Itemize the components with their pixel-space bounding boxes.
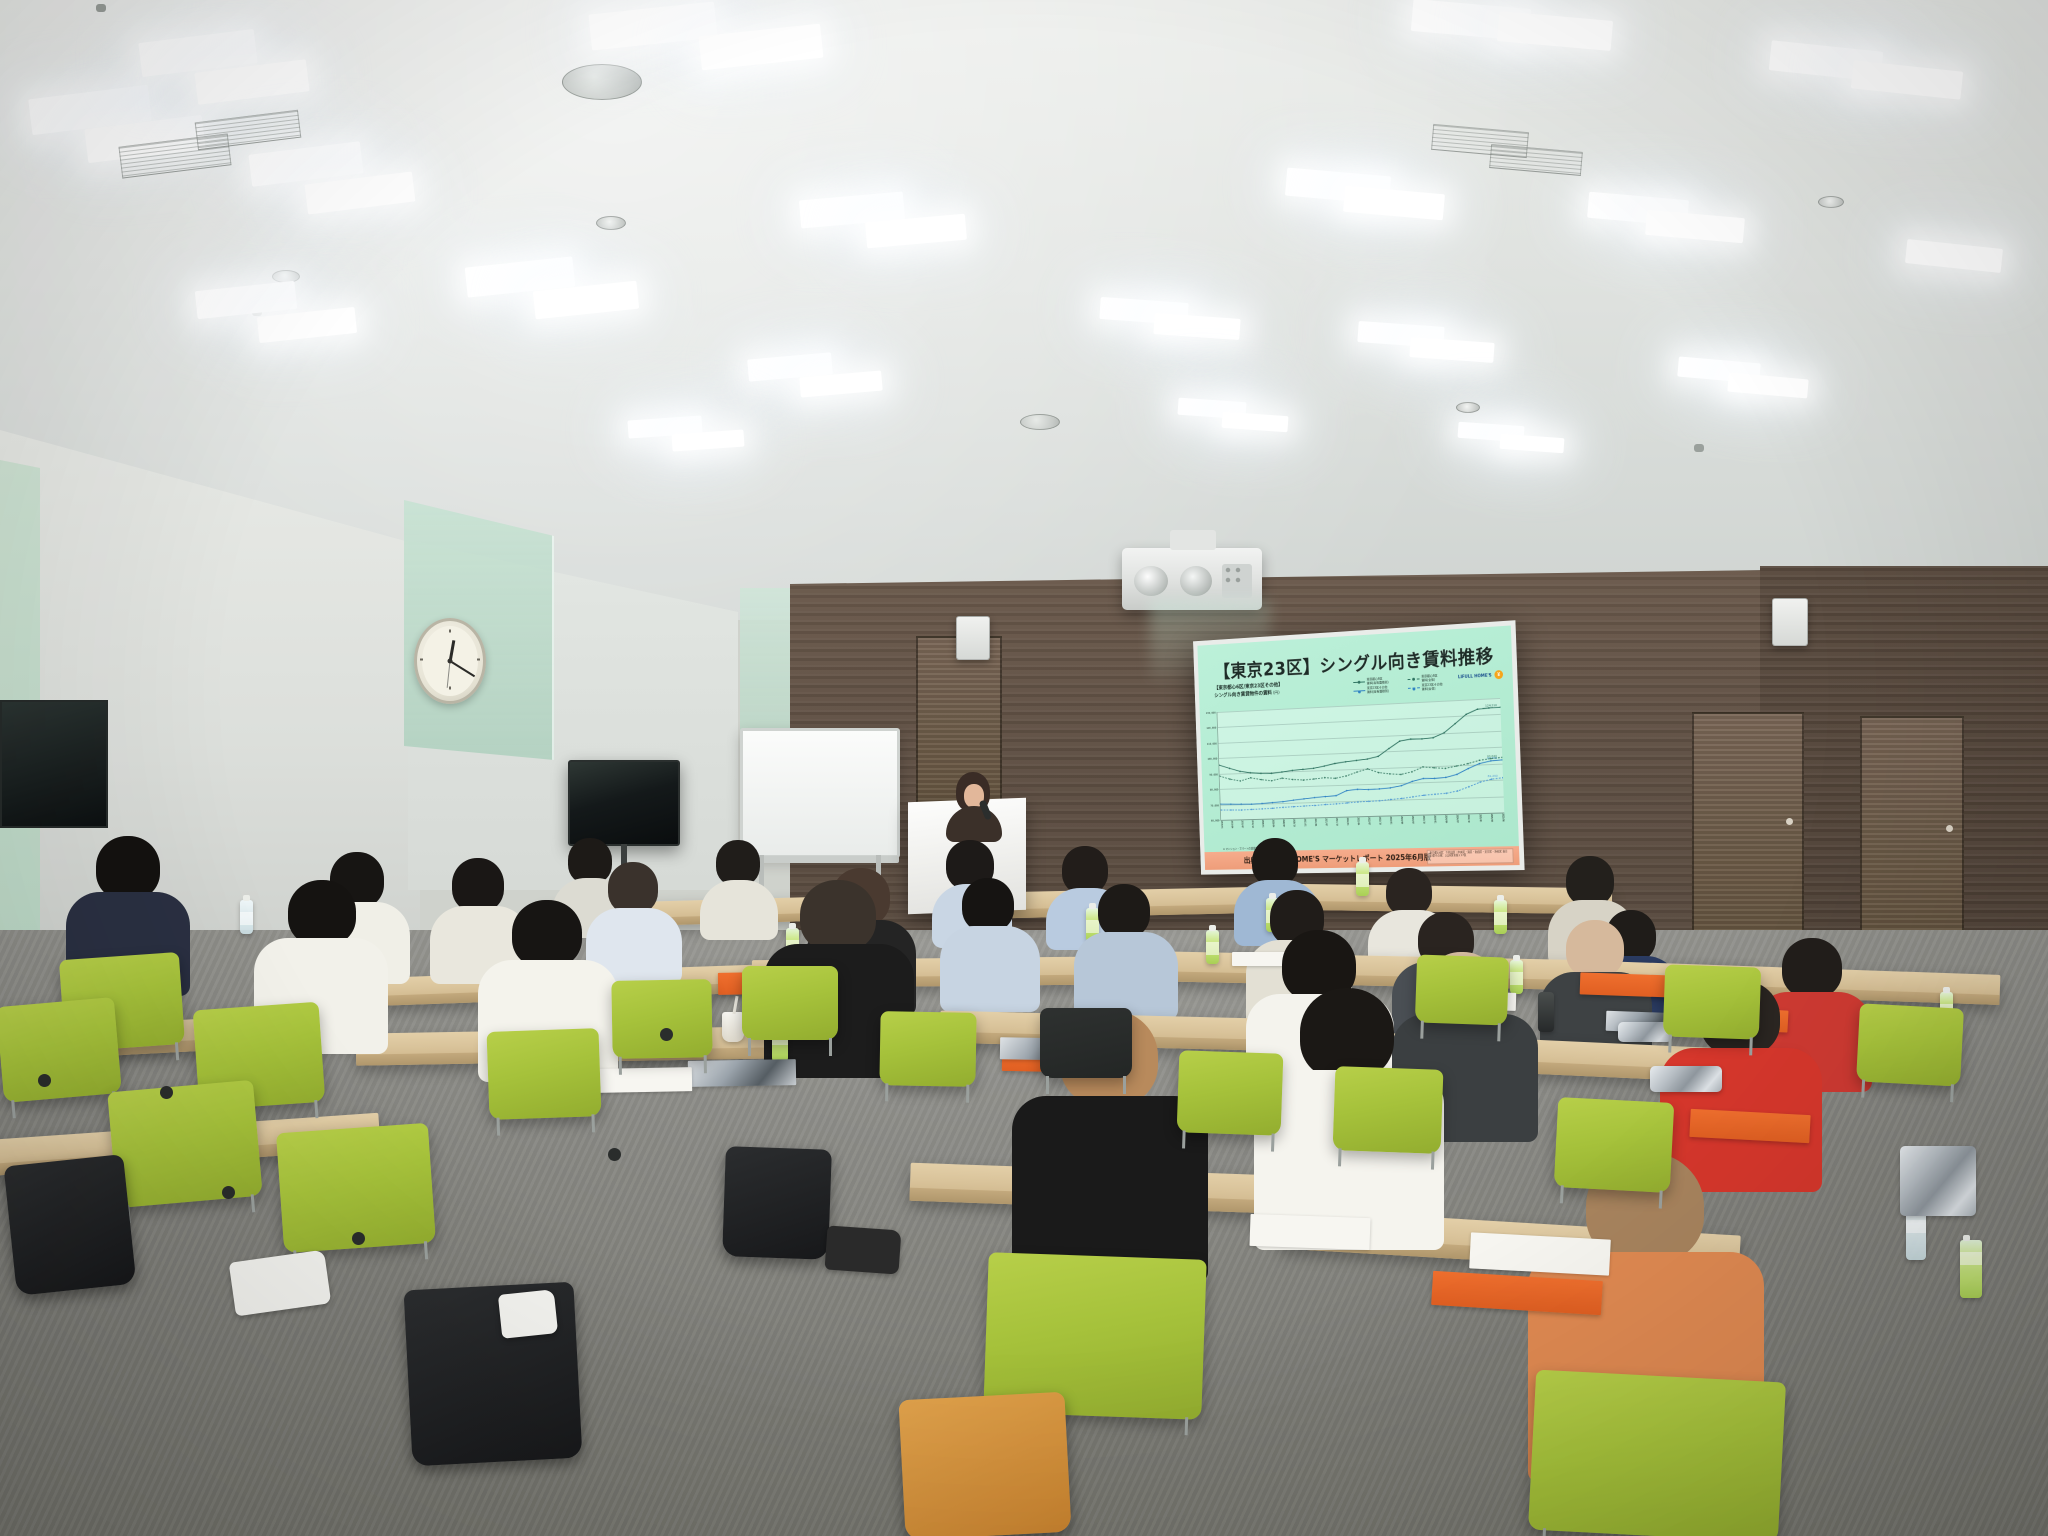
chair[interactable] bbox=[0, 997, 122, 1103]
handout-paper bbox=[1469, 1232, 1611, 1275]
attendee-head bbox=[1566, 920, 1624, 978]
chart-x-tick-label: 2019/07 bbox=[1241, 820, 1244, 828]
legend-label: 東京23区その他賃料(全体) bbox=[1422, 683, 1443, 691]
ceiling-downlight bbox=[1456, 402, 1480, 413]
chart-data-point bbox=[1220, 803, 1221, 805]
chart-data-point bbox=[1251, 803, 1253, 805]
chair[interactable] bbox=[1856, 1003, 1964, 1086]
chair-caster bbox=[352, 1232, 365, 1245]
legend-swatch bbox=[1408, 678, 1420, 680]
chart-x-tick-label: 2023/10 bbox=[1422, 816, 1425, 824]
attendee-torso bbox=[940, 926, 1040, 1012]
door-knob[interactable] bbox=[1786, 818, 1793, 825]
chart-data-point bbox=[1422, 766, 1424, 768]
chair[interactable] bbox=[486, 1028, 601, 1120]
ceiling-speaker bbox=[1020, 414, 1060, 430]
door-knob[interactable] bbox=[1946, 825, 1953, 832]
chart-data-point bbox=[1346, 802, 1348, 804]
chart-data-point bbox=[1271, 780, 1273, 782]
paper-cup bbox=[722, 1012, 744, 1042]
chart-x-tick-label: 2020/10 bbox=[1293, 819, 1296, 827]
chart-data-point bbox=[1303, 805, 1305, 807]
whiteboard bbox=[740, 728, 900, 858]
attendee-head bbox=[1566, 856, 1614, 906]
slide-subtitle-unit: (円) bbox=[1272, 689, 1280, 694]
chart-x-tick-label: 2020/01 bbox=[1261, 820, 1264, 828]
chart-data-point bbox=[1421, 738, 1423, 740]
chart-data-point bbox=[1345, 775, 1347, 777]
clock-tick bbox=[449, 687, 451, 690]
chair-caster bbox=[222, 1186, 235, 1199]
chart-data-point bbox=[1250, 777, 1252, 779]
foil-snack bbox=[1900, 1146, 1976, 1216]
chart-data-point bbox=[1434, 793, 1436, 795]
projection-screen: 【東京23区】シングル向き賃料推移 【東京都心6区/東京23区その他】 シングル… bbox=[1193, 620, 1525, 874]
screen-frame: 【東京23区】シングル向き賃料推移 【東京都心6区/東京23区その他】 シングル… bbox=[1193, 620, 1525, 874]
chart-data-point bbox=[1423, 794, 1425, 796]
chart-legend: 東京都心6区賃料(専有面積別)東京都心6区賃料(全体)東京23区その他賃料(専有… bbox=[1353, 673, 1464, 695]
chart-x-tick-label: 2021/04 bbox=[1314, 818, 1317, 826]
chair[interactable] bbox=[1415, 954, 1509, 1025]
side-door-far-right[interactable] bbox=[1860, 716, 1964, 952]
chart-data-point bbox=[1281, 777, 1283, 779]
legend-label: 東京都心6区賃料(全体) bbox=[1421, 675, 1437, 683]
attendee-head bbox=[608, 862, 658, 914]
chart-data-point bbox=[1292, 779, 1294, 781]
chart-data-point bbox=[1251, 809, 1253, 811]
chart-x-tick-label: 2019/04 bbox=[1231, 821, 1234, 829]
chair[interactable] bbox=[1554, 1097, 1675, 1193]
chart-data-point bbox=[1433, 767, 1435, 769]
attendee-head bbox=[512, 900, 582, 968]
chart-data-point bbox=[1334, 763, 1336, 765]
chart-data-point bbox=[1501, 756, 1503, 758]
wall-clock bbox=[414, 618, 486, 704]
chart-data-point bbox=[1500, 706, 1502, 708]
shoe bbox=[498, 1289, 558, 1339]
chart-data-point bbox=[1434, 778, 1436, 780]
chart-data-point bbox=[1241, 809, 1243, 811]
projector-keypad[interactable] bbox=[1222, 564, 1252, 598]
chair[interactable] bbox=[1040, 1008, 1132, 1078]
chart-data-point bbox=[1302, 769, 1304, 771]
chart-data-point bbox=[1292, 770, 1294, 772]
chart-data-point bbox=[1457, 790, 1459, 792]
sprinkler-head bbox=[1694, 444, 1704, 452]
chart-x-tick-label: 2024/07 bbox=[1456, 815, 1459, 823]
chart-data-point bbox=[1240, 803, 1242, 805]
chart-y-tick-label: 100,000 bbox=[1203, 757, 1217, 761]
chart-y-tick-label: 70,000 bbox=[1205, 803, 1219, 807]
chart-data-point bbox=[1220, 809, 1221, 811]
chair-caster bbox=[38, 1074, 51, 1087]
chart-series-line bbox=[1220, 778, 1504, 811]
green-tea-bottle bbox=[1494, 900, 1507, 934]
chart-plot-area: 60,00070,00080,00090,000100,000110,00012… bbox=[1217, 698, 1505, 821]
chair[interactable] bbox=[1663, 964, 1761, 1039]
attendee-head bbox=[288, 880, 356, 946]
green-tea-bottle bbox=[1356, 862, 1369, 896]
chair[interactable] bbox=[107, 1080, 263, 1208]
chart-data-point bbox=[1357, 788, 1359, 790]
chart-data-point bbox=[1368, 801, 1370, 803]
clock-tick bbox=[420, 659, 423, 661]
clock-tick bbox=[449, 630, 451, 633]
chart-x-tick-label: 2021/07 bbox=[1324, 818, 1327, 826]
chart-data-point bbox=[1260, 779, 1262, 781]
legend-label: 東京都心6区賃料(専有面積別) bbox=[1367, 677, 1389, 685]
legend-swatch bbox=[1408, 687, 1420, 689]
attendee-head bbox=[1098, 884, 1150, 938]
chair[interactable] bbox=[1333, 1066, 1444, 1154]
chart-data-point bbox=[1490, 760, 1492, 762]
chart-data-point bbox=[1490, 758, 1492, 760]
water-bottle bbox=[240, 900, 253, 934]
chart-series-line bbox=[1218, 707, 1503, 775]
chart-data-point bbox=[1313, 767, 1315, 769]
chart-data-point bbox=[1272, 802, 1274, 804]
chart-data-point bbox=[1445, 768, 1447, 770]
chart-data-point bbox=[1293, 806, 1295, 808]
orange-folder bbox=[1580, 972, 1677, 997]
attendee-head bbox=[962, 878, 1014, 932]
sprinkler-head bbox=[96, 4, 106, 12]
chart-data-point bbox=[1379, 800, 1381, 802]
chart-data-point bbox=[1293, 799, 1295, 801]
chart-x-tick-label: 2020/07 bbox=[1282, 819, 1285, 827]
side-door-right[interactable] bbox=[1692, 712, 1804, 942]
chart-x-tick-label: 2019/10 bbox=[1251, 820, 1254, 828]
backpack bbox=[4, 1154, 137, 1296]
tote-bag bbox=[898, 1392, 1071, 1536]
chair-caster bbox=[608, 1148, 621, 1161]
attendee-torso bbox=[1074, 932, 1178, 1020]
slide-source-note-box: 東京都心6区：千代田区・中央区・港区・新宿区・文京区・渋谷区 東京23区その他：… bbox=[1427, 848, 1514, 864]
chart-data-point bbox=[1368, 789, 1370, 791]
chart-data-point bbox=[1367, 758, 1369, 760]
chart-y-tick-label: 90,000 bbox=[1203, 772, 1217, 776]
chart-data-point bbox=[1271, 773, 1273, 775]
chart-data-point bbox=[1230, 809, 1232, 811]
projector-lens bbox=[1134, 566, 1168, 596]
presentation-slide: 【東京23区】シングル向き賃料推移 【東京都心6区/東京23区その他】 シングル… bbox=[1197, 626, 1519, 870]
chart-data-point bbox=[1357, 801, 1359, 803]
legend-item: 東京23区その他賃料(全体) bbox=[1408, 682, 1458, 692]
chart-data-point bbox=[1345, 761, 1347, 763]
shoe bbox=[825, 1225, 902, 1274]
chart-data-point bbox=[1389, 773, 1391, 775]
chart-data-point bbox=[1281, 771, 1283, 773]
chart-data-point bbox=[1446, 792, 1448, 794]
chart-x-tick-label: 2020/04 bbox=[1272, 819, 1275, 827]
projector-mount bbox=[1170, 530, 1216, 550]
chart-x-tick-label: 2022/01 bbox=[1346, 818, 1349, 826]
chart-y-tick-label: 80,000 bbox=[1204, 788, 1218, 792]
ceiling-downlight bbox=[1818, 196, 1844, 208]
chart-x-tick-label: 2023/04 bbox=[1400, 816, 1403, 824]
chart-x-tick-label: 2022/07 bbox=[1367, 817, 1370, 825]
chart-data-point bbox=[1314, 805, 1316, 807]
attendee-head bbox=[1782, 938, 1842, 998]
chart-data-point bbox=[1488, 707, 1490, 709]
chart-data-point bbox=[1501, 759, 1503, 761]
chart-data-point bbox=[1325, 804, 1327, 806]
clock-tick bbox=[477, 659, 480, 661]
legend-label: 東京23区その他賃料(専有面積別) bbox=[1367, 686, 1389, 694]
chart-data-point bbox=[1250, 772, 1252, 774]
green-tea-bottle bbox=[1510, 960, 1523, 994]
chart-series-line bbox=[1219, 757, 1502, 783]
chart-series-line bbox=[1219, 760, 1503, 805]
chair-caster bbox=[660, 1028, 673, 1041]
chair[interactable] bbox=[1528, 1370, 1786, 1536]
chart-data-point bbox=[1314, 797, 1316, 799]
chart-data-point bbox=[1335, 777, 1337, 779]
chart-data-point bbox=[1502, 777, 1504, 779]
chart-data-point bbox=[1325, 796, 1327, 798]
legend-item: 東京23区その他賃料(専有面積別) bbox=[1353, 685, 1402, 694]
ceiling-speaker bbox=[562, 64, 642, 100]
attendee-head bbox=[1386, 868, 1432, 916]
chart-x-tick-label: 2024/04 bbox=[1445, 815, 1448, 823]
attendee-head bbox=[1062, 846, 1108, 894]
brand-logo: LIFULL HOME'S ¥ bbox=[1458, 670, 1503, 681]
chart-data-point bbox=[1356, 760, 1358, 762]
projector-lens-secondary bbox=[1180, 566, 1212, 596]
chart-data-point bbox=[1261, 808, 1263, 810]
chart-data-point bbox=[1323, 765, 1325, 767]
chart-x-tick-label: 2025/04 bbox=[1490, 814, 1493, 822]
brand-badge: ¥ bbox=[1494, 670, 1503, 679]
chart-data-point bbox=[1401, 798, 1403, 800]
attendee-head bbox=[1252, 838, 1298, 886]
chart-x-tick-label: 2024/01 bbox=[1433, 815, 1436, 823]
attendee-head bbox=[96, 836, 160, 900]
wall-speaker-left bbox=[956, 616, 990, 660]
chart-data-point bbox=[1261, 803, 1263, 805]
chart-x-tick-label: 2025/01 bbox=[1478, 814, 1481, 822]
chart-data-point bbox=[1324, 777, 1326, 779]
thermos-bottle bbox=[1538, 992, 1554, 1032]
chart-x-tick-label: 2025/06 bbox=[1501, 813, 1504, 821]
chart-data-point bbox=[1467, 763, 1469, 765]
chart-data-point bbox=[1390, 799, 1392, 801]
chart-data-point bbox=[1389, 787, 1391, 789]
chair-caster bbox=[160, 1086, 173, 1099]
chart-x-tick-label: 2023/01 bbox=[1389, 816, 1392, 824]
backpack bbox=[722, 1146, 832, 1260]
chart-data-point bbox=[1303, 798, 1305, 800]
legend-swatch bbox=[1353, 681, 1365, 683]
chart-series-svg bbox=[1217, 698, 1504, 820]
chart-data-point bbox=[1379, 788, 1381, 790]
chart-data-point bbox=[1456, 765, 1458, 767]
wall-speaker-right bbox=[1772, 598, 1808, 646]
foil-snack bbox=[1650, 1066, 1722, 1092]
chart-x-tick-label: 2021/10 bbox=[1335, 818, 1338, 826]
chart-x-tick-label: 2019/01 bbox=[1220, 821, 1223, 829]
chart-y-tick-label: 60,000 bbox=[1205, 819, 1219, 823]
chart-data-point bbox=[1410, 738, 1412, 740]
chart-data-point bbox=[1282, 806, 1284, 808]
flat-panel-monitor bbox=[568, 760, 680, 846]
chart-data-point bbox=[1272, 807, 1274, 809]
chart-x-tick-label: 2024/10 bbox=[1467, 814, 1470, 822]
chart-data-point bbox=[1479, 759, 1481, 761]
chair[interactable] bbox=[742, 966, 838, 1040]
chair[interactable] bbox=[1177, 1050, 1284, 1136]
chart-data-point bbox=[1412, 796, 1414, 798]
ceiling-downlight bbox=[596, 216, 626, 230]
flat-panel-monitor-far-left bbox=[0, 700, 108, 828]
chart-y-tick-label: 120,000 bbox=[1202, 726, 1216, 730]
chart-data-point bbox=[1260, 773, 1262, 775]
handout-paper bbox=[1249, 1214, 1370, 1250]
attendee-head bbox=[800, 880, 876, 952]
chart-x-tick-label: 2022/10 bbox=[1378, 817, 1381, 825]
attendee-head bbox=[452, 858, 504, 912]
chair[interactable] bbox=[879, 1011, 976, 1087]
green-tea-bottle bbox=[1206, 930, 1219, 964]
chair[interactable] bbox=[611, 979, 712, 1059]
chart-data-point bbox=[1336, 803, 1338, 805]
chart-x-tick-label: 2021/01 bbox=[1303, 819, 1306, 827]
seminar-room-photo: 【東京23区】シングル向き賃料推移 【東京都心6区/東京23区その他】 シングル… bbox=[0, 0, 2048, 1536]
chart-data-point bbox=[1400, 774, 1402, 776]
chart-x-tick-label: 2022/04 bbox=[1357, 817, 1360, 825]
brand-name: LIFULL HOME'S bbox=[1458, 673, 1492, 680]
chart-data-point bbox=[1230, 803, 1232, 805]
chart-y-tick-label: 110,000 bbox=[1202, 741, 1216, 745]
green-tea-bottle bbox=[1960, 1240, 1982, 1298]
chart-data-point bbox=[1303, 779, 1305, 781]
clock-center-pin bbox=[448, 659, 453, 664]
legend-swatch bbox=[1354, 690, 1366, 692]
chart-data-point bbox=[1282, 801, 1284, 803]
chart-x-tick-label: 2023/07 bbox=[1411, 816, 1414, 824]
attendee-torso bbox=[700, 880, 778, 940]
chart-data-point bbox=[1313, 778, 1315, 780]
chart-y-tick-label: 130,000 bbox=[1201, 711, 1215, 715]
